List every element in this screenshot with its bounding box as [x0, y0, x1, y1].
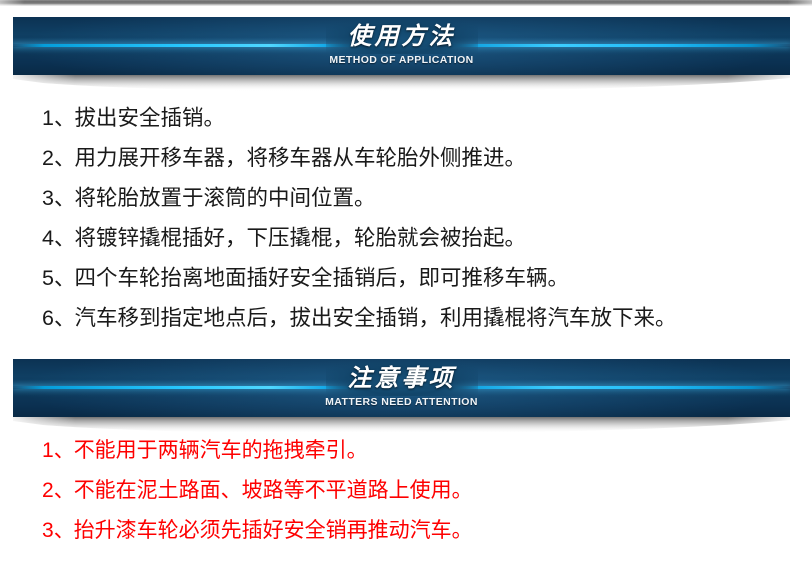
- list-item-text: 拔出安全插销。: [74, 108, 225, 130]
- banner-title-group: 注意事项 MATTERS NEED ATTENTION: [13, 359, 790, 417]
- list-item-text: 不能用于两辆汽车的拖拽牵引。: [74, 440, 368, 461]
- list-item-separator: 、: [54, 108, 75, 130]
- list-item-separator: 、: [54, 268, 75, 290]
- attention-notes-list: 1 、 不能用于两辆汽车的拖拽牵引。 2 、 不能在泥土路面、坡路等不平道路上使…: [42, 440, 473, 560]
- list-item: 6 、 汽车移到指定地点后，拔出安全插销，利用撬棍将汽车放下来。: [42, 308, 677, 348]
- section-header-method: 使用方法 METHOD OF APPLICATION: [13, 17, 790, 99]
- method-steps-list: 1 、 拔出安全插销。 2 、 用力展开移车器，将移车器从车轮胎外侧推进。 3 …: [42, 108, 677, 348]
- banner-method: 使用方法 METHOD OF APPLICATION: [13, 17, 790, 75]
- list-item-text: 将轮胎放置于滚筒的中间位置。: [74, 188, 375, 210]
- list-item-number: 1: [42, 108, 54, 130]
- list-item-number: 3: [42, 188, 54, 210]
- list-item-number: 2: [42, 148, 54, 170]
- list-item: 1 、 拔出安全插销。: [42, 108, 677, 148]
- list-item-text: 将镀锌撬棍插好，下压撬棍，轮胎就会被抬起。: [74, 228, 526, 250]
- banner-title-en: METHOD OF APPLICATION: [329, 55, 473, 66]
- list-item-number: 1: [42, 440, 54, 461]
- list-item-separator: 、: [54, 520, 74, 541]
- banner-shadow-curve: [13, 75, 790, 99]
- list-item-separator: 、: [54, 440, 74, 461]
- list-item-number: 5: [42, 268, 54, 290]
- list-item-separator: 、: [54, 308, 75, 330]
- banner-drop-shadow: [13, 75, 790, 99]
- list-item: 4 、 将镀锌撬棍插好，下压撬棍，轮胎就会被抬起。: [42, 228, 677, 268]
- list-item-number: 2: [42, 480, 54, 501]
- list-item-separator: 、: [54, 228, 75, 250]
- list-item: 2 、 用力展开移车器，将移车器从车轮胎外侧推进。: [42, 148, 677, 188]
- list-item-text: 用力展开移车器，将移车器从车轮胎外侧推进。: [74, 148, 526, 170]
- banner-title-cn: 使用方法: [326, 24, 478, 48]
- list-item: 3 、 将轮胎放置于滚筒的中间位置。: [42, 188, 677, 228]
- banner-attention: 注意事项 MATTERS NEED ATTENTION: [13, 359, 790, 417]
- list-item-separator: 、: [54, 480, 74, 501]
- list-item-text: 汽车移到指定地点后，拔出安全插销，利用撬棍将汽车放下来。: [74, 308, 676, 330]
- banner-title-en: MATTERS NEED ATTENTION: [325, 397, 478, 408]
- list-item-separator: 、: [54, 188, 75, 210]
- list-item: 1 、 不能用于两辆汽车的拖拽牵引。: [42, 440, 473, 480]
- banner-title-group: 使用方法 METHOD OF APPLICATION: [13, 17, 790, 75]
- list-item-number: 4: [42, 228, 54, 250]
- list-item: 2 、 不能在泥土路面、坡路等不平道路上使用。: [42, 480, 473, 520]
- list-item-text: 不能在泥土路面、坡路等不平道路上使用。: [74, 480, 473, 501]
- list-item: 5 、 四个车轮抬离地面插好安全插销后，即可推移车辆。: [42, 268, 677, 308]
- list-item-text: 四个车轮抬离地面插好安全插销后，即可推移车辆。: [74, 268, 569, 290]
- list-item-number: 3: [42, 520, 54, 541]
- list-item-number: 6: [42, 308, 54, 330]
- list-item-text: 抬升漆车轮必须先插好安全销再推动汽车。: [74, 520, 473, 541]
- section-header-attention: 注意事项 MATTERS NEED ATTENTION: [13, 359, 790, 441]
- list-item-separator: 、: [54, 148, 75, 170]
- banner-title-cn: 注意事项: [326, 366, 478, 390]
- list-item: 3 、 抬升漆车轮必须先插好安全销再推动汽车。: [42, 520, 473, 560]
- top-divider-strip: [0, 0, 812, 6]
